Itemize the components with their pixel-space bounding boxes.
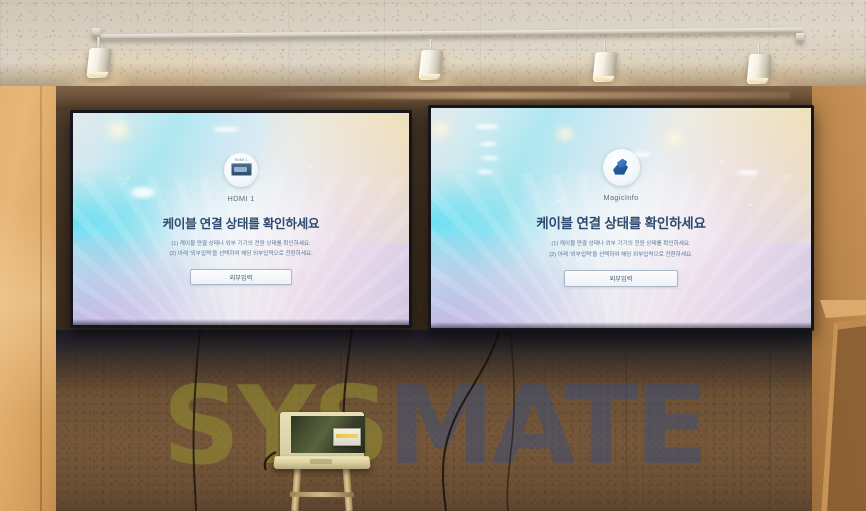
lamp-lens-icon xyxy=(747,78,768,83)
headline-right: 케이블 연결 상태를 확인하세요 xyxy=(536,212,706,232)
display-right-content: MagicInfo 케이블 연결 상태를 확인하세요 (1) 케이블 연결 상태… xyxy=(431,108,811,328)
badge-mini-label: HDMI 1 xyxy=(235,158,248,162)
lamp-lens-icon xyxy=(593,76,614,81)
hdmi-connector-glyph xyxy=(231,163,252,176)
lamp-head-icon xyxy=(86,48,111,78)
dialog-highlight-bar xyxy=(336,434,358,438)
wall-seam xyxy=(40,86,42,511)
laptop-on-stand[interactable] xyxy=(274,412,370,472)
laptop-trackpad[interactable] xyxy=(310,459,332,464)
instruction-line-2: (2) 아래 '외부입력'을 선택하여 해당 외부입력으로 전환하세요. xyxy=(549,250,692,260)
screen-bottom-shade xyxy=(73,319,409,325)
track-rail-end-right xyxy=(796,33,804,42)
magicinfo-icon xyxy=(603,149,640,186)
hdmi-port-icon: HDMI 1 xyxy=(224,153,258,187)
lamp-head-icon xyxy=(746,54,771,84)
back-wall-seam-2 xyxy=(626,330,627,511)
back-wall-shadow xyxy=(56,330,812,390)
lamp-lens-icon xyxy=(419,74,440,79)
lamp-head-icon xyxy=(418,50,443,80)
instruction-line-2: (2) 아래 '외부입력'을 선택하여 해당 외부입력으로 전환하세요. xyxy=(169,249,312,259)
screen-bottom-shade xyxy=(431,322,811,328)
display-left-content: HDMI 1 HDMI 1 케이블 연결 상태를 확인하세요 (1) 케이블 연… xyxy=(73,113,409,325)
external-input-button-right[interactable]: 외부입력 xyxy=(564,270,678,287)
stand-crossbar xyxy=(290,492,354,497)
leaning-wooden-panel xyxy=(790,300,866,511)
lamp-head-icon xyxy=(592,52,617,82)
laptop-screen xyxy=(291,416,365,453)
laptop-lid xyxy=(280,412,364,457)
laptop-dialog-window[interactable] xyxy=(333,428,361,446)
track-rail-end-left xyxy=(92,28,100,37)
display-right[interactable]: MagicInfo 케이블 연결 상태를 확인하세요 (1) 케이블 연결 상태… xyxy=(428,105,814,331)
lamp-lens-icon xyxy=(87,72,108,77)
room-scene: SYSMATE xyxy=(0,0,866,511)
source-label-left: HDMI 1 xyxy=(227,194,254,203)
external-input-button-left[interactable]: 외부입력 xyxy=(190,269,292,285)
instruction-line-1: (1) 케이블 연결 상태나 외부 기기의 전원 상태를 확인하세요. xyxy=(169,239,312,249)
instruction-line-1: (1) 케이블 연결 상태나 외부 기기의 전원 상태를 확인하세요. xyxy=(549,239,692,249)
instructions-left: (1) 케이블 연결 상태나 외부 기기의 전원 상태를 확인하세요. (2) … xyxy=(169,239,312,260)
surround-top-highlight xyxy=(250,92,790,99)
instructions-right: (1) 케이블 연결 상태나 외부 기기의 전원 상태를 확인하세요. (2) … xyxy=(549,239,692,260)
back-wall-seam-3 xyxy=(770,330,771,511)
magicinfo-glyph xyxy=(611,158,631,178)
source-label-right: MagicInfo xyxy=(603,193,638,202)
headline-left: 케이블 연결 상태를 확인하세요 xyxy=(163,213,320,232)
display-left[interactable]: HDMI 1 HDMI 1 케이블 연결 상태를 확인하세요 (1) 케이블 연… xyxy=(70,110,412,328)
